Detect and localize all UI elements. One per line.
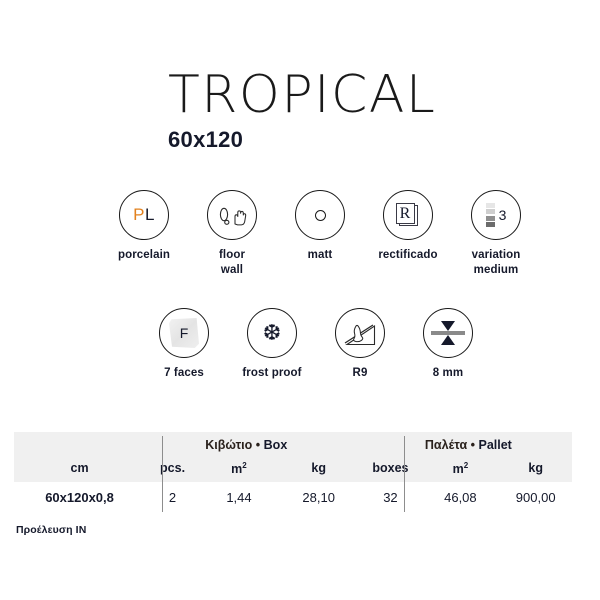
footprint-hand-glyph	[216, 202, 248, 228]
group-box-separator: •	[256, 438, 260, 452]
thickness-glyph	[431, 320, 465, 346]
faces-letter-f: F	[180, 325, 189, 341]
cell-pallet-m2: 46,08	[421, 490, 499, 505]
snowflake-glyph: ❆	[263, 322, 281, 344]
caption-line-floor: floor	[219, 249, 245, 261]
feature-caption-matt: matt	[308, 248, 333, 263]
title-block: TROPICAL 60x120	[168, 68, 568, 153]
feature-caption-porcelain: porcelain	[118, 248, 170, 263]
caption-line-medium: medium	[474, 264, 519, 276]
variation-bar-2	[486, 209, 495, 214]
thickness-arrow-bottom	[441, 335, 455, 345]
pl-letter-p: P	[133, 205, 145, 224]
faces-tile-icon: F	[159, 308, 209, 358]
feature-thickness: 8 mm	[404, 308, 492, 381]
feature-icon-row-secondary: F 7 faces ❆ frost proof R9 8 mm	[140, 308, 492, 381]
packaging-table: Κιβώτιο • Box Παλέτα • Pallet cm pcs. m2…	[14, 432, 572, 512]
cell-pallet-boxes: 32	[359, 490, 421, 505]
variation-bar-4	[486, 222, 495, 227]
pl-badge-icon: PL	[119, 190, 169, 240]
group-spacer	[14, 438, 142, 452]
feature-caption-frost-proof: frost proof	[242, 366, 301, 381]
origin-note: Προέλευση IN	[16, 524, 86, 536]
faces-tile-shape: F	[169, 318, 199, 348]
snowflake-icon: ❆	[247, 308, 297, 358]
group-pallet-separator: •	[471, 438, 475, 452]
foot-slope-glyph	[343, 319, 377, 347]
column-header-pallet-m2: m2	[421, 461, 499, 476]
column-header-box-kg: kg	[278, 461, 359, 476]
feature-caption-slip-resistance: R9	[353, 366, 368, 381]
pallet-m2-unit: m	[453, 462, 464, 476]
feature-caption-faces: 7 faces	[164, 366, 204, 381]
cell-pallet-kg: 900,00	[499, 490, 572, 505]
feature-porcelain: PL porcelain	[100, 190, 188, 263]
group-header-box: Κιβώτιο • Box	[142, 438, 351, 452]
table-header: Κιβώτιο • Box Παλέτα • Pallet cm pcs. m2…	[14, 432, 572, 482]
rectified-r-icon: R	[383, 190, 433, 240]
variation-bar-1	[486, 203, 495, 208]
thickness-icon	[423, 308, 473, 358]
table-row: 60x120x0,8 2 1,44 28,10 32 46,08 900,00	[14, 482, 572, 512]
feature-matt: matt	[276, 190, 364, 263]
matt-inner-ring	[315, 210, 326, 221]
feature-floor-wall: floor wall	[188, 190, 276, 277]
cell-box-kg: 28,10	[278, 490, 359, 505]
rect-letter-r: R	[395, 202, 415, 225]
cell-box-pcs: 2	[145, 490, 200, 505]
slip-resistance-icon	[335, 308, 385, 358]
pallet-m2-superscript: 2	[464, 461, 468, 470]
group-box-english: Box	[264, 438, 288, 452]
thickness-arrow-top	[441, 321, 455, 331]
floor-wall-icon	[207, 190, 257, 240]
feature-icon-row-primary: PL porcelain floor wall matt R	[100, 190, 540, 277]
column-header-box-m2: m2	[200, 461, 278, 476]
feature-faces: F 7 faces	[140, 308, 228, 381]
caption-line-variation: variation	[472, 249, 521, 261]
cell-format-cm: 60x120x0,8	[14, 490, 145, 505]
feature-caption-variation: variation medium	[472, 248, 521, 277]
table-unit-header-row: cm pcs. m2 kg boxes m2 kg	[14, 461, 572, 476]
feature-rectificado: R rectificado	[364, 190, 452, 263]
group-pallet-english: Pallet	[478, 438, 511, 452]
caption-line-wall: wall	[221, 264, 243, 276]
table-group-header-row: Κιβώτιο • Box Παλέτα • Pallet	[14, 438, 572, 452]
cell-box-m2: 1,44	[200, 490, 278, 505]
column-header-pallet-boxes: boxes	[359, 461, 421, 476]
pl-letter-l: L	[145, 205, 155, 224]
group-pallet-greek: Παλέτα	[425, 438, 467, 452]
table-divider-box	[162, 436, 163, 512]
variation-level-number: 3	[499, 207, 507, 223]
variation-glyph: 3	[486, 203, 507, 228]
box-m2-unit: m	[231, 462, 242, 476]
box-m2-superscript: 2	[242, 461, 246, 470]
matt-circle-icon	[295, 190, 345, 240]
feature-variation: 3 variation medium	[452, 190, 540, 277]
group-header-pallet: Παλέτα • Pallet	[365, 438, 572, 452]
feature-frost-proof: ❆ frost proof	[228, 308, 316, 381]
feature-caption-thickness: 8 mm	[433, 366, 463, 381]
group-box-greek: Κιβώτιο	[205, 438, 252, 452]
feature-caption-floor-wall: floor wall	[219, 248, 245, 277]
variation-bars	[486, 203, 495, 228]
page-title: TROPICAL	[168, 68, 568, 123]
feature-slip-resistance: R9	[316, 308, 404, 381]
product-size-label: 60x120	[168, 127, 568, 153]
column-header-cm: cm	[14, 461, 145, 476]
column-header-box-pcs: pcs.	[145, 461, 200, 476]
column-header-pallet-kg: kg	[499, 461, 572, 476]
rectified-square-glyph: R	[395, 202, 421, 228]
shade-variation-icon: 3	[471, 190, 521, 240]
table-divider-pallet	[404, 436, 405, 512]
feature-caption-rectificado: rectificado	[378, 248, 437, 263]
variation-bar-3	[486, 216, 495, 221]
